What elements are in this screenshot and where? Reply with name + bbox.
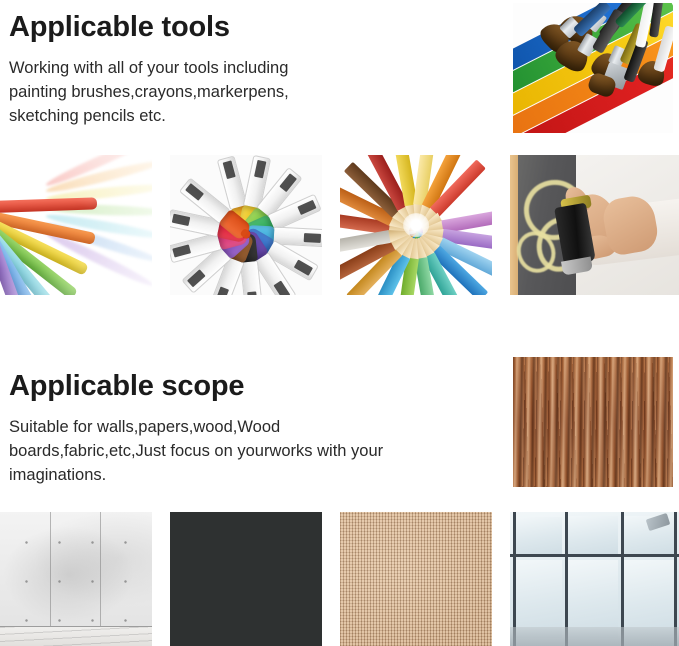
product-feature-page: Applicable tools Working with all of you…	[0, 0, 679, 646]
wood-grain-texture-photo	[513, 357, 673, 487]
section-title: Applicable scope	[9, 371, 383, 403]
paint-brushes-rainbow-photo	[513, 3, 673, 133]
colored-pencils-photo	[340, 155, 492, 295]
colored-chalk-photo	[0, 155, 152, 295]
applicable-scope-section: Applicable scope Suitable for walls,pape…	[9, 371, 383, 487]
description-line: Suitable for walls,papers,wood,Wood	[9, 415, 383, 439]
description-line: sketching pencils etc.	[9, 104, 289, 128]
applicable-tools-section: Applicable tools Working with all of you…	[9, 12, 289, 128]
description-line: boards,fabric,etc,Just focus on yourwork…	[9, 439, 383, 463]
description-line: painting brushes,crayons,markerpens,	[9, 80, 289, 104]
paint-markers-photo	[170, 155, 322, 295]
glass-window-photo	[510, 512, 679, 646]
page-title: Applicable tools	[9, 12, 289, 44]
description-line: imaginations.	[9, 463, 383, 487]
spray-paint-graffiti-photo	[510, 155, 679, 295]
concrete-wall-photo	[0, 512, 152, 646]
burlap-fabric-photo	[340, 512, 492, 646]
description-line: Working with all of your tools including	[9, 56, 289, 80]
applicable-scope-description: Suitable for walls,papers,wood,Wood boar…	[9, 415, 383, 487]
applicable-tools-description: Working with all of your tools including…	[9, 56, 289, 128]
blackboard-photo	[170, 512, 322, 646]
